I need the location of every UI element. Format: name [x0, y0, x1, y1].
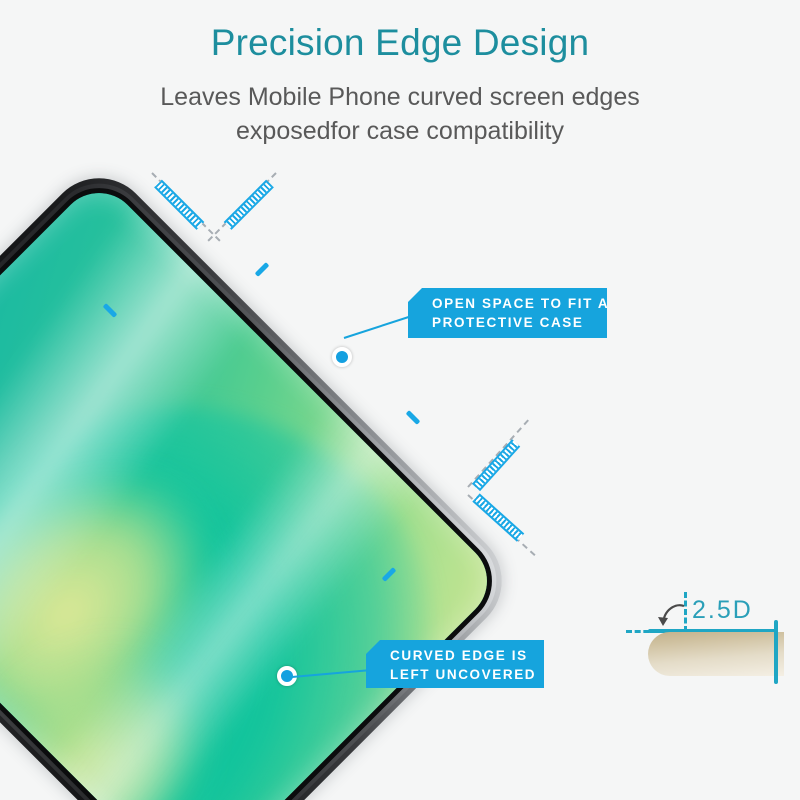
subtitle-line-2: exposedfor case compatibility — [0, 114, 800, 148]
edge-curvature-diagram: 2.5D — [636, 592, 800, 688]
phone-body — [0, 157, 523, 800]
page-title: Precision Edge Design — [0, 22, 800, 64]
callout-line-2: LEFT UNCOVERED — [390, 665, 534, 684]
page-subtitle: Leaves Mobile Phone curved screen edges … — [0, 80, 800, 148]
device-illustration — [0, 205, 470, 800]
callout-open-space[interactable]: OPEN SPACE TO FIT A PROTECTIVE CASE — [408, 288, 607, 338]
callout-marker-dot[interactable] — [332, 347, 352, 367]
crosshair-marker-side — [466, 436, 566, 546]
diagram-right-edge-line — [774, 620, 778, 684]
subtitle-line-1: Leaves Mobile Phone curved screen edges — [0, 80, 800, 114]
callout-curved-edge[interactable]: CURVED EDGE IS LEFT UNCOVERED — [366, 640, 544, 688]
edge-thickness-label: 2.5D — [692, 596, 753, 625]
crosshair-ruler-bar — [154, 180, 204, 230]
crosshair-ruler-bar — [472, 439, 520, 491]
crosshair-marker-top — [150, 168, 280, 248]
product-graphic: Precision Edge Design Leaves Mobile Phon… — [0, 0, 800, 800]
callout-line-2: PROTECTIVE CASE — [432, 313, 597, 332]
glass-edge-cross-section — [648, 632, 784, 676]
crosshair-ruler-bar — [224, 180, 274, 230]
crosshair-ruler-bar — [472, 493, 524, 541]
callout-line-1: OPEN SPACE TO FIT A — [432, 294, 597, 313]
callout-line-1: CURVED EDGE IS — [390, 646, 534, 665]
